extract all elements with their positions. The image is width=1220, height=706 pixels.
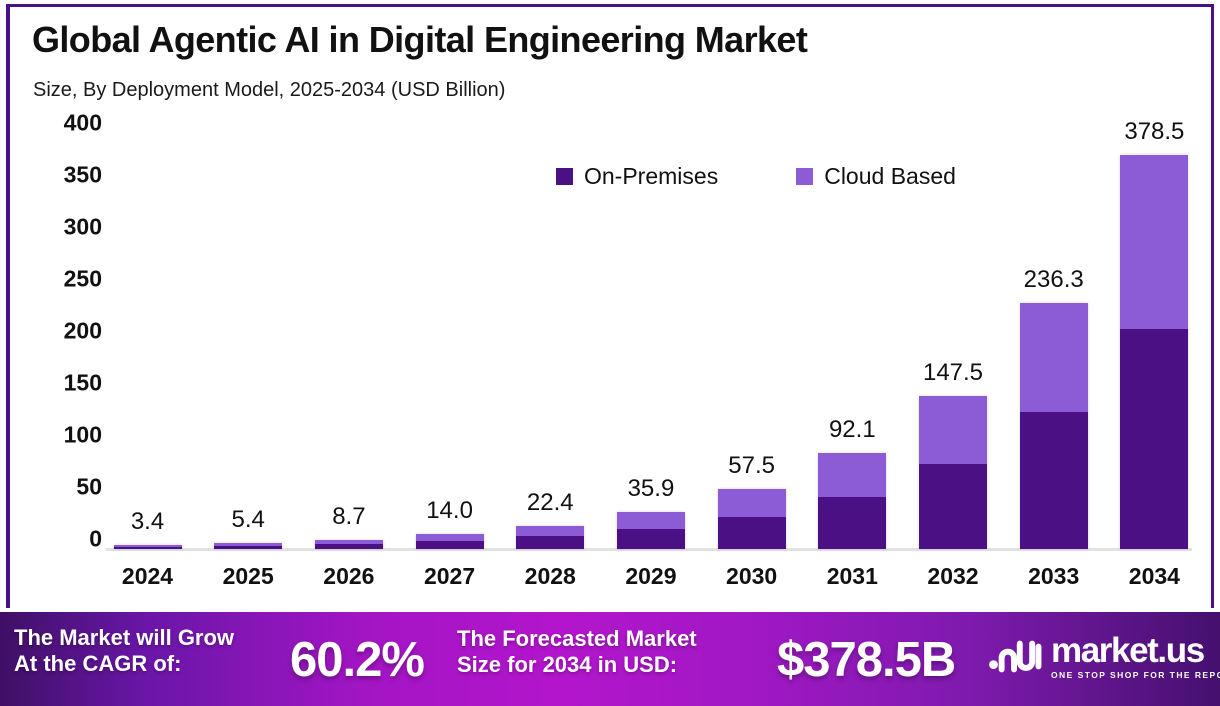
y-axis-tick-label: 350 bbox=[64, 162, 102, 189]
bar-column[interactable]: 14.0 bbox=[408, 133, 491, 549]
forecast-size-label-line1: The Forecasted Market bbox=[457, 626, 697, 652]
x-axis-tick-label: 2032 bbox=[912, 563, 995, 590]
x-axis-labels: 2024202520262027202820292030203120322033… bbox=[106, 563, 1196, 590]
y-axis-tick-label: 100 bbox=[64, 422, 102, 449]
forecast-size-label-line2: Size for 2034 in USD: bbox=[457, 652, 697, 678]
cagr-label: The Market will Grow At the CAGR of: bbox=[14, 625, 234, 677]
forecast-size-value: $378.5B bbox=[777, 632, 955, 688]
bar-column[interactable]: 378.5 bbox=[1113, 133, 1196, 549]
bar-column[interactable]: 35.9 bbox=[609, 133, 692, 549]
market-us-logo-mark-icon bbox=[988, 635, 1042, 677]
chart-card: Global Agentic AI in Digital Engineering… bbox=[6, 4, 1214, 608]
bar-segment-on-premises[interactable] bbox=[416, 541, 484, 549]
bar-series-group: 3.45.48.714.022.435.957.592.1147.5236.33… bbox=[106, 133, 1196, 549]
bar-segment-cloud-based[interactable] bbox=[516, 526, 584, 537]
stacked-bar[interactable] bbox=[114, 545, 182, 549]
logo-tagline: ONE STOP SHOP FOR THE REPORTS bbox=[1051, 671, 1220, 680]
forecast-size-label: The Forecasted Market Size for 2034 in U… bbox=[457, 626, 697, 678]
x-axis-tick-label: 2030 bbox=[710, 563, 793, 590]
bar-segment-cloud-based[interactable] bbox=[718, 489, 786, 516]
bar-segment-on-premises[interactable] bbox=[114, 547, 182, 549]
x-axis-tick-label: 2024 bbox=[106, 563, 189, 590]
bar-total-label: 57.5 bbox=[728, 452, 775, 480]
bar-segment-on-premises[interactable] bbox=[1120, 329, 1188, 549]
bar-total-label: 3.4 bbox=[131, 508, 164, 536]
bar-total-label: 22.4 bbox=[527, 489, 574, 517]
bar-segment-cloud-based[interactable] bbox=[617, 512, 685, 529]
bar-column[interactable]: 22.4 bbox=[509, 133, 592, 549]
bar-total-label: 378.5 bbox=[1124, 118, 1184, 146]
bar-total-label: 236.3 bbox=[1024, 266, 1084, 294]
x-axis-tick-label: 2027 bbox=[408, 563, 491, 590]
bar-segment-on-premises[interactable] bbox=[718, 517, 786, 549]
bar-segment-cloud-based[interactable] bbox=[1120, 155, 1188, 328]
bar-column[interactable]: 3.4 bbox=[106, 133, 189, 549]
logo-wordmark: market.us bbox=[1051, 633, 1220, 668]
x-axis-tick-label: 2033 bbox=[1012, 563, 1095, 590]
logo-text: market.us ONE STOP SHOP FOR THE REPORTS bbox=[1051, 633, 1220, 680]
stacked-bar[interactable] bbox=[818, 453, 886, 549]
stacked-bar[interactable] bbox=[718, 489, 786, 549]
chart-subtitle: Size, By Deployment Model, 2025-2034 (US… bbox=[33, 79, 505, 102]
bar-column[interactable]: 8.7 bbox=[307, 133, 390, 549]
x-axis-tick-label: 2025 bbox=[207, 563, 290, 590]
bar-segment-on-premises[interactable] bbox=[214, 546, 282, 549]
market-us-logo[interactable]: market.us ONE STOP SHOP FOR THE REPORTS bbox=[988, 633, 1220, 680]
bar-segment-on-premises[interactable] bbox=[315, 544, 383, 549]
stacked-bar[interactable] bbox=[516, 526, 584, 549]
y-axis-tick-label: 150 bbox=[64, 370, 102, 397]
x-axis-tick-label: 2028 bbox=[509, 563, 592, 590]
cagr-label-line2: At the CAGR of: bbox=[14, 651, 234, 677]
stacked-bar[interactable] bbox=[416, 534, 484, 549]
x-axis-tick-label: 2034 bbox=[1113, 563, 1196, 590]
stacked-bar[interactable] bbox=[214, 543, 282, 549]
bar-column[interactable]: 57.5 bbox=[710, 133, 793, 549]
stacked-bar[interactable] bbox=[919, 396, 987, 549]
bar-column[interactable]: 5.4 bbox=[207, 133, 290, 549]
bar-total-label: 5.4 bbox=[232, 506, 265, 534]
page-title: Global Agentic AI in Digital Engineering… bbox=[32, 19, 807, 61]
bar-segment-on-premises[interactable] bbox=[516, 536, 584, 549]
y-axis-tick-label: 0 bbox=[89, 526, 102, 553]
bar-total-label: 147.5 bbox=[923, 359, 983, 387]
bar-segment-on-premises[interactable] bbox=[818, 497, 886, 549]
bar-segment-cloud-based[interactable] bbox=[818, 453, 886, 497]
x-axis-tick-label: 2026 bbox=[307, 563, 390, 590]
bar-total-label: 14.0 bbox=[426, 497, 473, 525]
bar-column[interactable]: 147.5 bbox=[912, 133, 995, 549]
y-axis-tick-label: 50 bbox=[76, 474, 102, 501]
bar-segment-on-premises[interactable] bbox=[1020, 412, 1088, 549]
market-report-infographic: Global Agentic AI in Digital Engineering… bbox=[0, 0, 1220, 706]
cagr-label-line1: The Market will Grow bbox=[14, 625, 234, 651]
bar-segment-on-premises[interactable] bbox=[919, 464, 987, 549]
x-axis-tick-label: 2031 bbox=[811, 563, 894, 590]
bar-column[interactable]: 92.1 bbox=[811, 133, 894, 549]
bar-total-label: 92.1 bbox=[829, 416, 876, 444]
y-axis-tick-label: 300 bbox=[64, 214, 102, 241]
bar-segment-cloud-based[interactable] bbox=[919, 396, 987, 464]
y-axis-tick-label: 250 bbox=[64, 266, 102, 293]
bar-total-label: 35.9 bbox=[628, 475, 675, 503]
y-axis-tick-label: 400 bbox=[64, 110, 102, 137]
bar-segment-cloud-based[interactable] bbox=[1020, 303, 1088, 411]
bar-total-label: 8.7 bbox=[332, 503, 365, 531]
stacked-bar[interactable] bbox=[315, 540, 383, 549]
bar-column[interactable]: 236.3 bbox=[1012, 133, 1095, 549]
bar-segment-on-premises[interactable] bbox=[617, 529, 685, 549]
stacked-bar[interactable] bbox=[617, 512, 685, 549]
y-axis-tick-label: 200 bbox=[64, 318, 102, 345]
x-axis-tick-label: 2029 bbox=[609, 563, 692, 590]
stacked-bar[interactable] bbox=[1120, 155, 1188, 549]
stacked-bar[interactable] bbox=[1020, 303, 1088, 549]
cagr-value: 60.2% bbox=[290, 632, 424, 688]
y-axis: 050100150200250300350400 bbox=[30, 123, 102, 549]
